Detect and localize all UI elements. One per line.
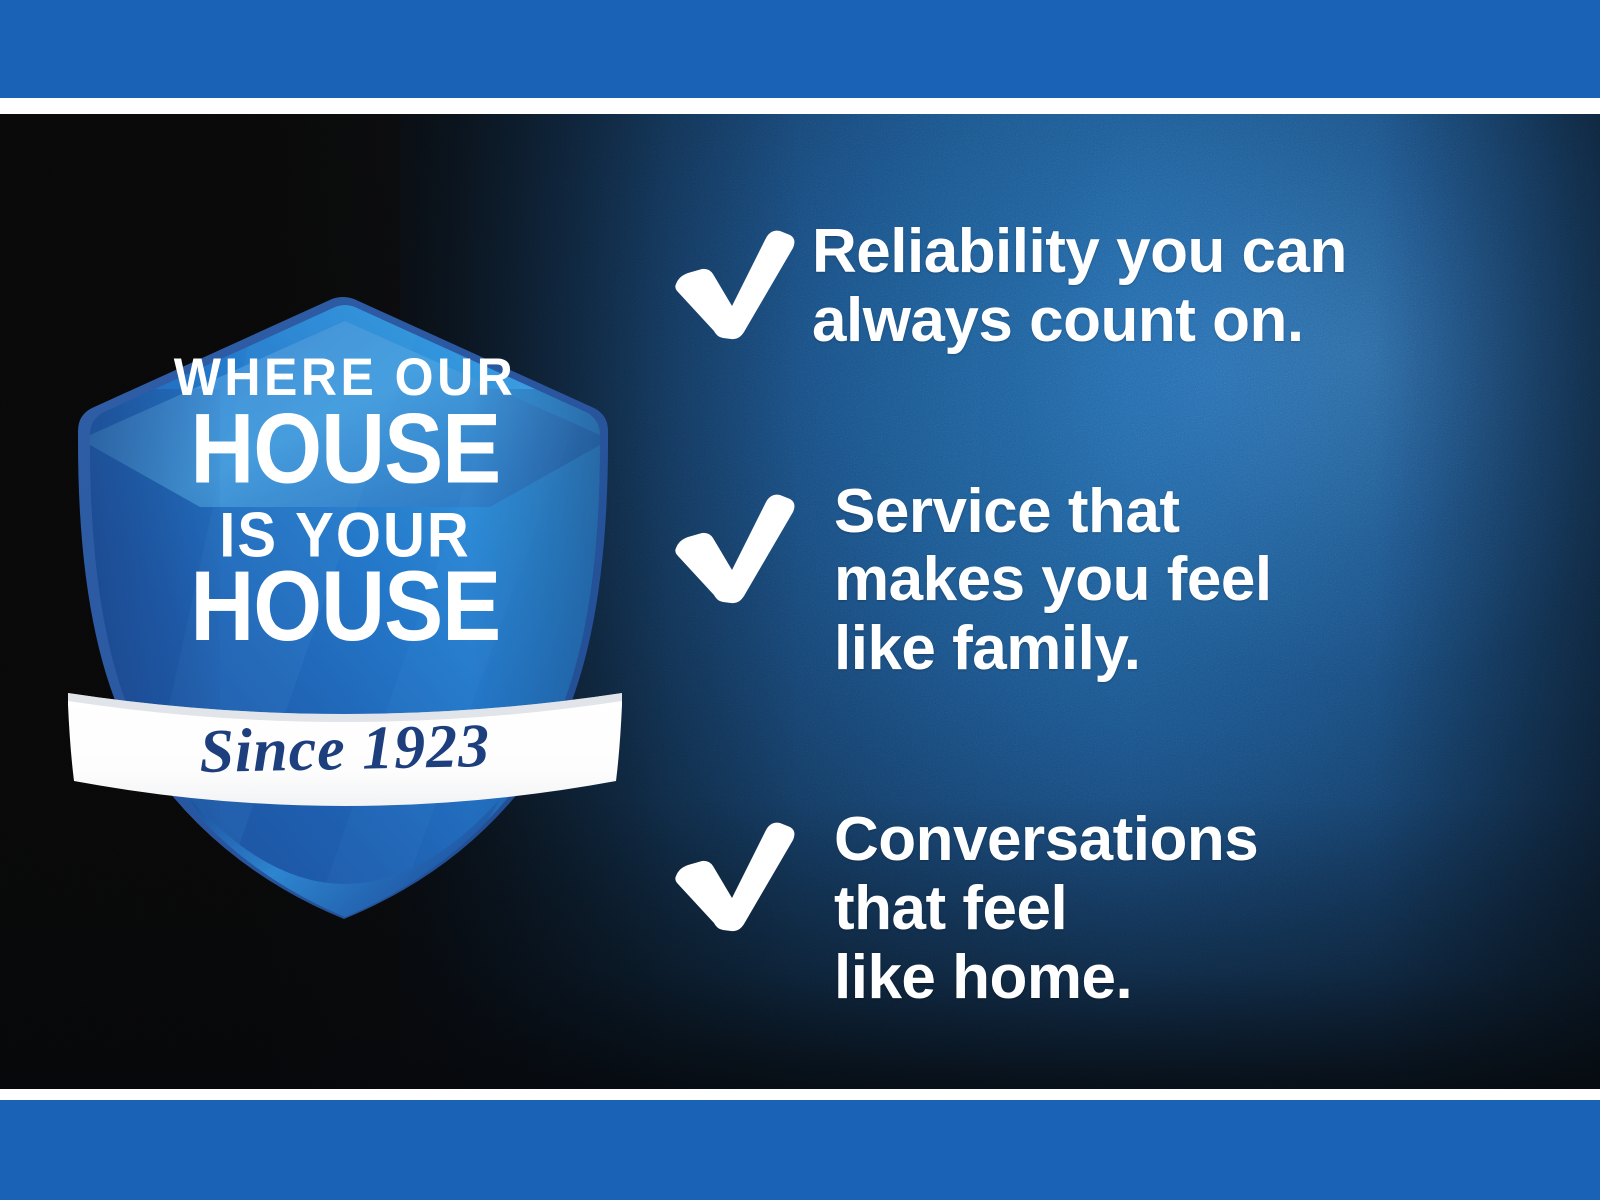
list-item-text: Conversations that feel like home. (812, 806, 1572, 1012)
main-content-area: WHERE OUR HOUSE IS YOUR HOUSE Since 1923 (0, 114, 1600, 1089)
promo-graphic: WHERE OUR HOUSE IS YOUR HOUSE Since 1923 (0, 0, 1600, 1200)
list-item: Reliability you can always count on. (672, 214, 1572, 356)
list-item: Service that makes you feel like family. (672, 478, 1572, 684)
check-icon (672, 806, 812, 933)
list-item: Conversations that feel like home. (672, 806, 1572, 1012)
check-icon (672, 214, 812, 341)
bottom-white-divider (0, 1089, 1600, 1100)
top-white-divider (0, 98, 1600, 114)
list-item-text: Service that makes you feel like family. (812, 478, 1572, 684)
since-banner-text: Since 1923 (199, 712, 491, 786)
brand-shield-logo: WHERE OUR HOUSE IS YOUR HOUSE Since 1923 (60, 269, 630, 929)
bottom-brand-bar (0, 1100, 1600, 1200)
logo-line-4: HOUSE (190, 550, 500, 661)
top-brand-bar (0, 0, 1600, 98)
check-icon (672, 478, 812, 605)
logo-line-2: HOUSE (190, 393, 500, 504)
benefits-list: Reliability you can always count on. Ser… (672, 214, 1572, 1013)
list-item-text: Reliability you can always count on. (812, 214, 1572, 356)
